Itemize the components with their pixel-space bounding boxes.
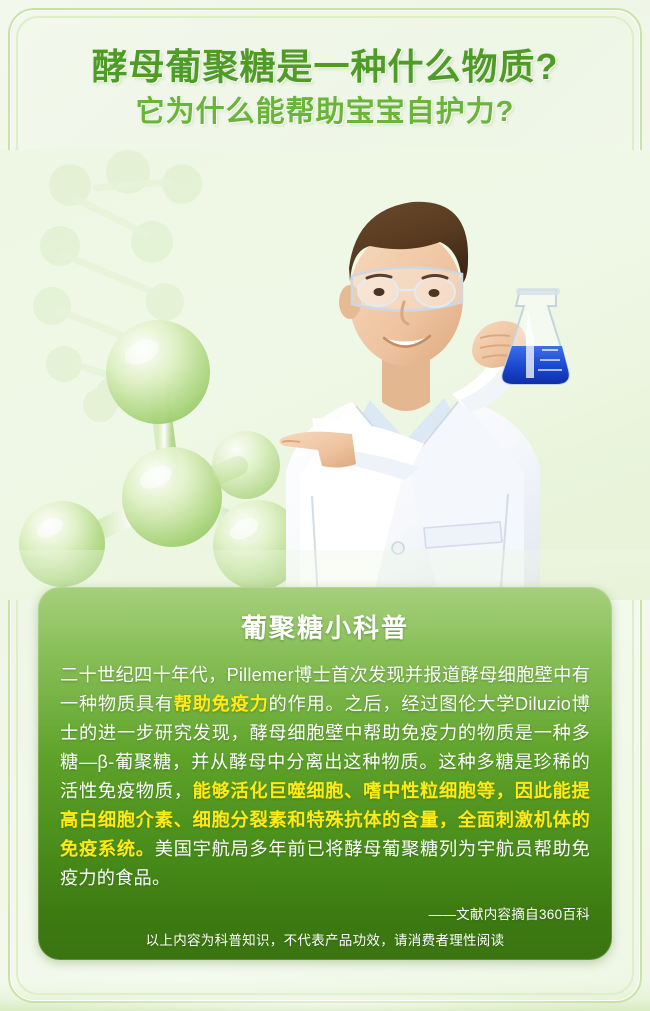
body-segment-highlight: 帮助免疫力 xyxy=(174,694,269,714)
hero-illustration xyxy=(0,150,650,600)
card-heading: 葡聚糖小科普 xyxy=(38,608,612,645)
card-disclaimer: 以上内容为科普知识，不代表产品功效，请消费者理性阅读 xyxy=(60,929,590,949)
frame-bottom-band xyxy=(0,981,650,1011)
safety-goggles-icon xyxy=(352,267,462,310)
page-title: 酵母葡聚糖是一种什么物质? xyxy=(0,46,650,88)
promo-page: 酵母葡聚糖是一种什么物质? 它为什么能帮助宝宝自护力? xyxy=(0,0,650,1011)
card-body-text: 二十世纪四十年代，Pillemer博士首次发现并报道酵母细胞壁中有一种物质具有帮… xyxy=(60,661,590,893)
card-bottom-glow xyxy=(30,991,620,1011)
page-subtitle: 它为什么能帮助宝宝自护力? xyxy=(0,95,650,129)
page-header: 酵母葡聚糖是一种什么物质? 它为什么能帮助宝宝自护力? xyxy=(0,46,650,130)
science-info-card: 葡聚糖小科普 二十世纪四十年代，Pillemer博士首次发现并报道酵母细胞壁中有… xyxy=(38,587,612,960)
card-source-attribution: ——文献内容摘自360百科 xyxy=(60,903,590,923)
